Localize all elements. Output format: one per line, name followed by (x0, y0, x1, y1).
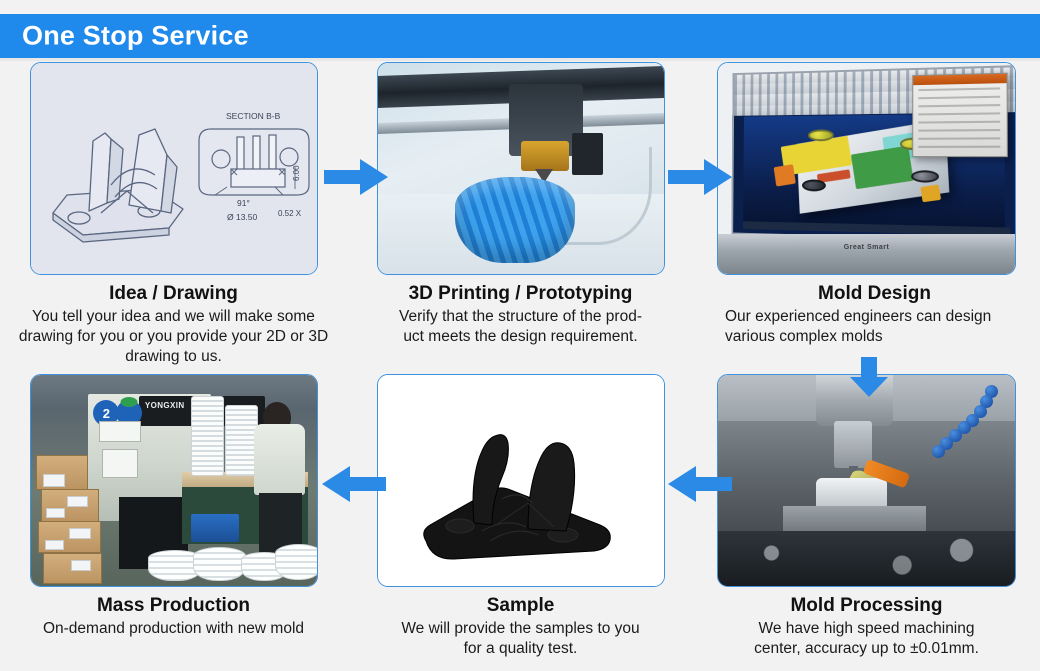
box-label (45, 540, 64, 551)
cardboard-box (43, 553, 103, 584)
step-body-line2: for a quality test. (464, 640, 578, 657)
page-title: One Stop Service (22, 21, 249, 52)
infographic-page: One Stop Service (0, 0, 1040, 671)
cardboard-box-stack (36, 455, 116, 582)
step-image-mold-processing (717, 374, 1016, 587)
floor-plate-stacks (145, 540, 317, 586)
header-underline (0, 58, 1040, 61)
cad-dialog-list (919, 87, 1001, 150)
monitor-brand-logo: Great Smart (844, 244, 890, 251)
printed-spiral-vase (455, 177, 575, 264)
monitor-background: Great Smart (718, 63, 1015, 274)
box-label (67, 496, 88, 507)
cad-dim-diameter: Ø 13.50 (227, 212, 258, 222)
plate-stack-tall-1 (191, 396, 224, 476)
step-body-line2: various complex molds (725, 328, 883, 345)
arrow-processing-to-sample (666, 462, 732, 506)
monitor-bezel-stand (718, 234, 1015, 274)
printer-background (378, 63, 664, 274)
step-image-idea-drawing: SECTION B-B 91° Ø 13.50 0.52 X 6.00 (30, 62, 318, 275)
bowl-stack (275, 544, 317, 579)
step-body-line2: center, accuracy up to ±0.01mm. (754, 640, 979, 657)
printer-hotend (521, 141, 570, 171)
box-label (71, 560, 90, 571)
cnc-background (718, 375, 1015, 586)
step-sample: Sample We will provide the samples to yo… (347, 374, 694, 659)
step-title-mass-production: Mass Production (0, 593, 347, 618)
step-body-line1: Our experienced engineers can design (725, 308, 991, 325)
machine-info-label-1 (99, 421, 141, 442)
step-body-mold-design: Our experienced engineers can design var… (709, 307, 1040, 347)
machine-brand-label: YONGXIN (145, 401, 185, 410)
step-body-line1: Verify that the structure of the prod- (399, 308, 642, 325)
step-mass-production: YONGXIN 2 (0, 374, 347, 639)
step-body-line1: We will provide the samples to you (401, 620, 639, 637)
step-title-sample: Sample (347, 593, 694, 618)
step-mold-processing: Mold Processing We have high speed machi… (693, 374, 1040, 659)
step-title-mold-processing: Mold Processing (693, 593, 1040, 618)
blue-storage-bin (191, 514, 240, 541)
caption-sample: Sample We will provide the samples to yo… (347, 587, 694, 659)
step-title-mold-design: Mold Design (709, 281, 1040, 306)
mold-part-orange-right (920, 184, 941, 202)
cad-section-label: SECTION B-B (226, 111, 281, 121)
caption-mold-design: Mold Design Our experienced engineers ca… (693, 275, 1040, 347)
step-image-3d-printing (377, 62, 665, 275)
cad-dialog-titlebar (913, 74, 1006, 85)
header-bar: One Stop Service (0, 14, 1040, 58)
caption-idea-drawing: Idea / Drawing You tell your idea and we… (0, 275, 347, 367)
step-title-3d-printing: 3D Printing / Prototyping (347, 281, 694, 306)
metal-chips-coolant-pool (718, 531, 1015, 586)
step-body-line2: uct meets the design requirement. (403, 328, 637, 345)
cad-dim-chamfer: 0.52 X (278, 209, 302, 218)
bowl-stack (193, 547, 246, 581)
mold-part-orange-left (774, 165, 796, 187)
cad-drawing-illustration: SECTION B-B 91° Ø 13.50 0.52 X 6.00 (31, 63, 318, 275)
arrow-idea-to-printing (324, 155, 390, 199)
step-body-mold-processing: We have high speed machining center, acc… (693, 619, 1040, 659)
cad-dialog-window[interactable] (912, 73, 1007, 157)
arrow-printing-to-mold-design (668, 155, 734, 199)
step-image-mold-design: Great Smart (717, 62, 1016, 275)
cad-dim-height: 6.00 (292, 165, 301, 181)
step-body-sample: We will provide the samples to you for a… (347, 619, 694, 659)
cardboard-box (38, 521, 101, 553)
box-label (69, 528, 90, 539)
monitor-screen (731, 65, 1016, 242)
worker-body (254, 424, 305, 496)
step-idea-drawing: SECTION B-B 91° Ø 13.50 0.52 X 6.00 Idea… (0, 62, 347, 367)
step-body-mass-production: On-demand production with new mold (0, 619, 347, 639)
caption-3d-printing: 3D Printing / Prototyping Verify that th… (347, 275, 694, 347)
step-title-idea-drawing: Idea / Drawing (0, 281, 347, 306)
caption-mass-production: Mass Production On-demand production wit… (0, 587, 347, 639)
step-body-line1: We have high speed machining (759, 620, 975, 637)
step-mold-design: Great Smart Mold Design Our experienced … (693, 62, 1040, 347)
step-body-3d-printing: Verify that the structure of the prod- u… (347, 307, 694, 347)
step-image-mass-production: YONGXIN 2 (30, 374, 318, 587)
cardboard-box (41, 489, 99, 521)
cardboard-box (36, 455, 88, 490)
arrow-sample-to-production (320, 462, 386, 506)
step-image-sample (377, 374, 665, 587)
step-3d-printing: 3D Printing / Prototyping Verify that th… (347, 62, 694, 347)
caption-mold-processing: Mold Processing We have high speed machi… (693, 587, 1040, 659)
coolant-hose (917, 383, 994, 480)
cad-dim-angle: 91° (237, 198, 250, 208)
arrow-mold-design-to-processing (846, 357, 892, 399)
box-label (43, 474, 65, 487)
box-label (46, 508, 65, 519)
factory-background: YONGXIN 2 (31, 375, 317, 586)
step-body-idea-drawing: You tell your idea and we will make some… (0, 307, 347, 367)
black-bracket-sample-illustration (378, 375, 665, 587)
mold-boss-4 (911, 170, 939, 183)
